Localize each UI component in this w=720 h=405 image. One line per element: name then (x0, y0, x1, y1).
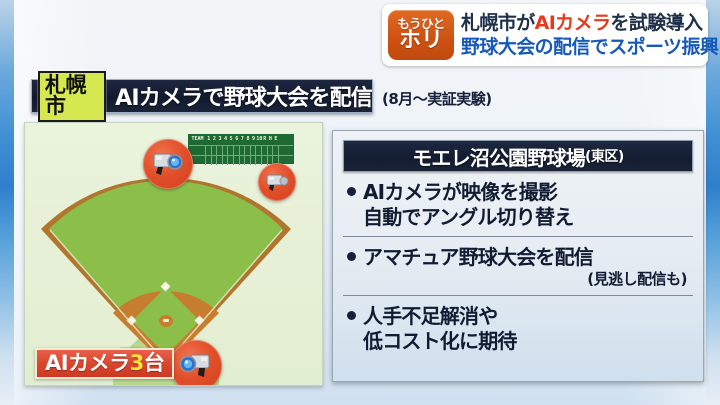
info-panel: モエレ沼公園野球場(東区) AIカメラが映像を撮影 自動でアングル切り替え アマ… (332, 130, 704, 382)
camera-marker-right-field (258, 163, 296, 201)
video-camera-icon (177, 350, 215, 382)
broadcast-screen: もうひと ホリ 札幌市がAIカメラを試験導入 野球大会の配信でスポーツ振興 札幌… (0, 0, 720, 405)
bullet-line: 人手不足解消や (363, 304, 517, 329)
venue-header: モエレ沼公園野球場(東区) (343, 140, 693, 172)
bullet-dot-icon (347, 252, 356, 261)
camera-count-suffix: 台 (144, 351, 165, 375)
bullet-line: 低コスト化に期待 (363, 329, 517, 354)
venue-ward: (東区) (585, 146, 624, 166)
headline-line-1-accent: AIカメラ (535, 12, 611, 34)
bullet-item: 人手不足解消や 低コスト化に期待 (343, 295, 693, 360)
bullet-line: アマチュア野球大会を配信 (363, 245, 593, 270)
main-title-bar: 札幌市 AIカメラで野球大会を配信 (31, 79, 373, 113)
bullet-item: AIカメラが映像を撮影 自動でアングル切り替え (343, 172, 693, 236)
baseball-field-diagram: TEAM 1 2 3 4 5 6 7 8 9 10 R H E (24, 122, 323, 386)
headline-banner: もうひと ホリ 札幌市がAIカメラを試験導入 野球大会の配信でスポーツ振興 (382, 4, 708, 66)
bullet-item: アマチュア野球大会を配信 (見逃し配信も) (343, 236, 693, 295)
headline-line-1-post: を試験導入 (610, 12, 702, 34)
scoreboard-grid (189, 145, 293, 165)
bullet-dot-icon (347, 311, 356, 320)
program-segment-badge: もうひと ホリ (388, 10, 454, 60)
camera-marker-home-plate (170, 340, 222, 386)
scoreboard-total-e: E (273, 137, 279, 142)
scoreboard-team-header: TEAM (189, 137, 206, 142)
bullet-note: (見逃し配信も) (345, 270, 691, 289)
video-camera-icon (264, 171, 290, 193)
title-subtext: (8月〜実証実験) (382, 88, 492, 109)
venue-name: モエレ沼公園野球場 (412, 142, 585, 171)
bullet-line: AIカメラが映像を撮影 (363, 180, 573, 205)
title-city-chip: 札幌市 (38, 71, 106, 122)
camera-marker-left-field (143, 139, 193, 189)
headline-text: 札幌市がAIカメラを試験導入 野球大会の配信でスポーツ振興 (461, 12, 718, 59)
scoreboard-row (189, 145, 293, 155)
page-title: AIカメラで野球大会を配信 (115, 80, 372, 112)
camera-count-number: 3 (130, 351, 144, 375)
bullet-dot-icon (347, 187, 356, 196)
headline-line-1: 札幌市がAIカメラを試験導入 (461, 12, 718, 35)
scoreboard-header-row: TEAM 1 2 3 4 5 6 7 8 9 10 R H E (189, 135, 293, 144)
camera-count-label: AIカメラ3台 (35, 348, 174, 379)
headline-line-2: 野球大会の配信でスポーツ振興 (461, 36, 718, 59)
bullet-line: 自動でアングル切り替え (363, 205, 573, 230)
camera-count-prefix: AIカメラ (45, 351, 130, 375)
badge-line-2: ホリ (399, 30, 443, 52)
video-camera-icon (150, 149, 186, 179)
scoreboard: TEAM 1 2 3 4 5 6 7 8 9 10 R H E (187, 133, 295, 165)
headline-line-1-pre: 札幌市が (461, 12, 535, 34)
